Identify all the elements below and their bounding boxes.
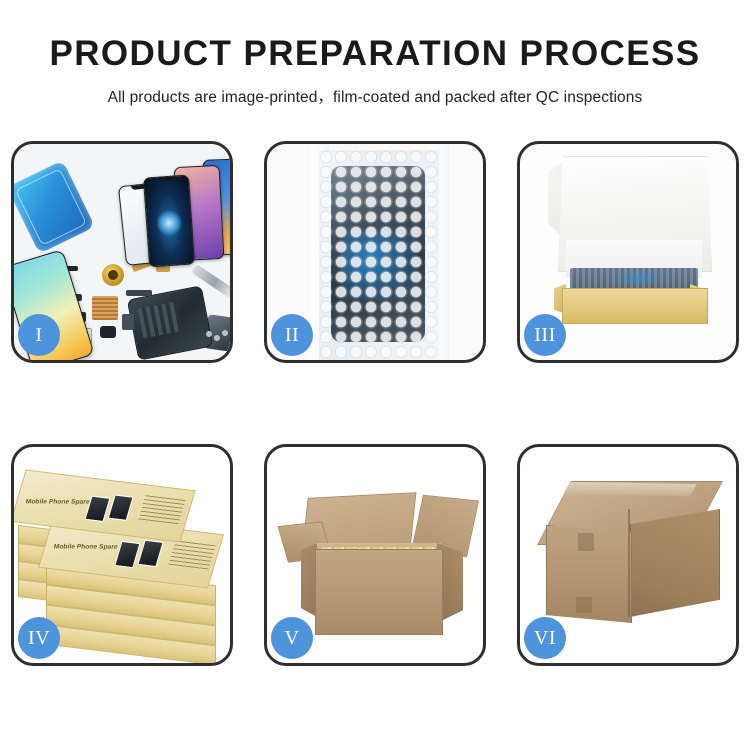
process-step-panel-3: III — [517, 141, 739, 363]
bubble-highlights — [319, 150, 439, 360]
connector-icon — [122, 314, 134, 330]
carton-handle-tab-icon — [576, 597, 592, 613]
flex-cable-icon — [156, 266, 170, 272]
process-step-panel-5: V — [264, 444, 486, 666]
header: PRODUCT PREPARATION PROCESS All products… — [0, 0, 750, 107]
speaker-coil-icon — [102, 264, 124, 286]
process-step-panel-4: Mobile Phone Spare Parts Mobile Phone Sp… — [11, 444, 233, 666]
box-base-icon — [562, 288, 708, 324]
phone-screen-print-icon — [137, 540, 163, 567]
step-numeral-badge-1: I — [18, 314, 60, 356]
carton-handle-tab-icon — [578, 533, 594, 551]
box-spec-text-block — [168, 540, 215, 570]
step-numeral-badge-2: II — [271, 314, 313, 356]
step-numeral-badge-5: V — [271, 617, 313, 659]
process-steps-grid: I II — [11, 141, 739, 666]
step-numeral-badge-3: III — [524, 314, 566, 356]
carton-corner-seam — [628, 509, 630, 617]
process-step-panel-2: II — [264, 141, 486, 363]
battery-icon — [100, 326, 116, 338]
step-numeral-badge-4: IV — [18, 617, 60, 659]
sealed-carton-side-right — [630, 509, 720, 617]
process-step-panel-1: I — [11, 141, 233, 363]
carton-body-icon — [315, 549, 443, 635]
screws-icon — [206, 330, 228, 342]
process-step-panel-6: VI — [517, 444, 739, 666]
contents-blue-tint — [612, 270, 664, 286]
phone-screen-jellyfish-icon — [143, 175, 195, 268]
phone-screen-print-icon — [108, 494, 134, 520]
page-subtitle: All products are image-printed，film-coat… — [0, 85, 750, 107]
notch-icon — [158, 177, 174, 182]
copper-grid-part-icon — [92, 296, 118, 320]
box-spec-text-block — [138, 494, 185, 524]
packing-tape-icon — [563, 482, 696, 496]
phone-screen-fan — [48, 154, 228, 264]
page-title: PRODUCT PREPARATION PROCESS — [0, 36, 750, 73]
step-numeral-badge-6: VI — [524, 617, 566, 659]
infographic-page: PRODUCT PREPARATION PROCESS All products… — [0, 0, 750, 750]
flex-cable-icon — [126, 290, 152, 296]
jellyfish-wallpaper-icon — [155, 209, 183, 237]
